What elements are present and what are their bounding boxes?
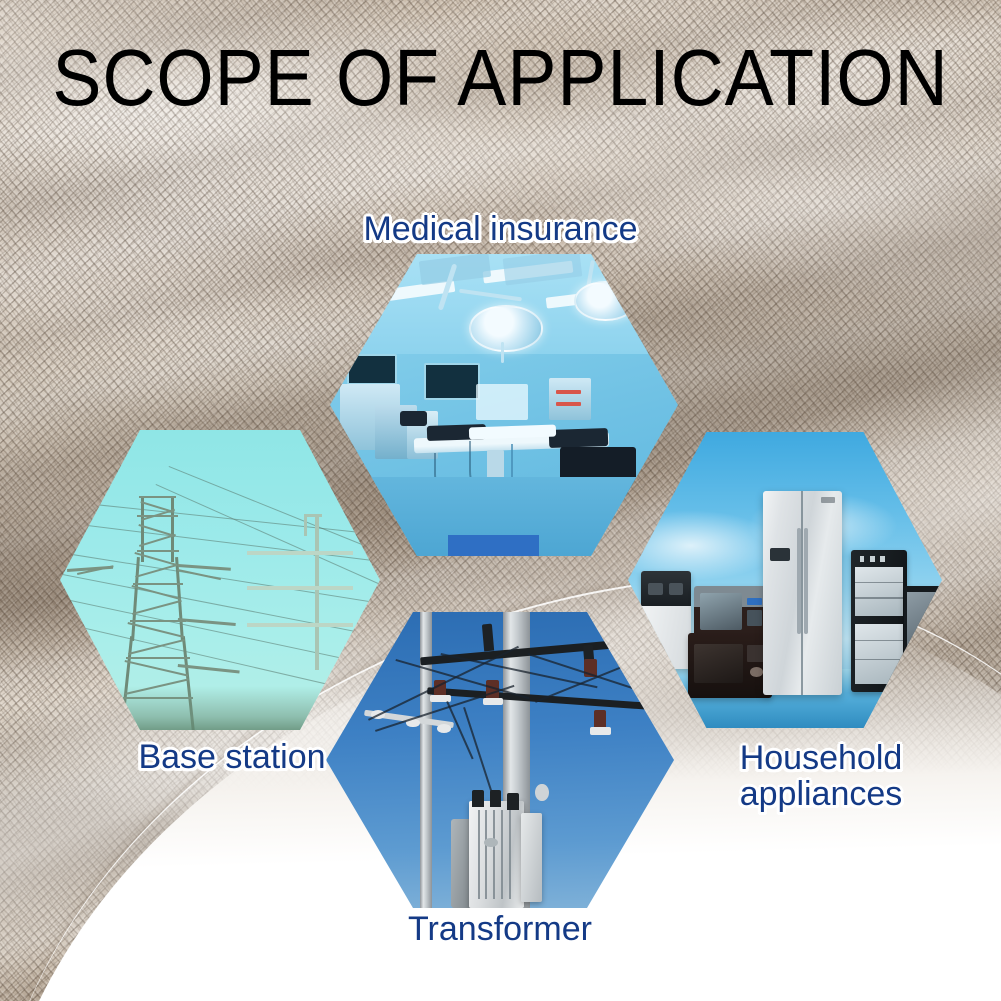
- microwave-oven-icon: [694, 586, 769, 639]
- surgical-lamp-icon: [469, 305, 543, 351]
- refrigerator-icon: [763, 491, 842, 695]
- label-medical-insurance: Medical insurance: [0, 212, 1001, 247]
- page-title: SCOPE OF APPLICATION: [40, 38, 961, 118]
- oven-icon: [688, 633, 773, 698]
- label-base-station: Base station: [92, 740, 372, 775]
- transformer-radiator-icon: [469, 801, 525, 908]
- label-household-appliances: Household appliances: [676, 740, 966, 812]
- power-pylon-icon-2: [284, 514, 354, 670]
- poster-canvas: SCOPE OF APPLICATION: [0, 0, 1001, 1001]
- label-transformer: Transformer: [300, 912, 700, 947]
